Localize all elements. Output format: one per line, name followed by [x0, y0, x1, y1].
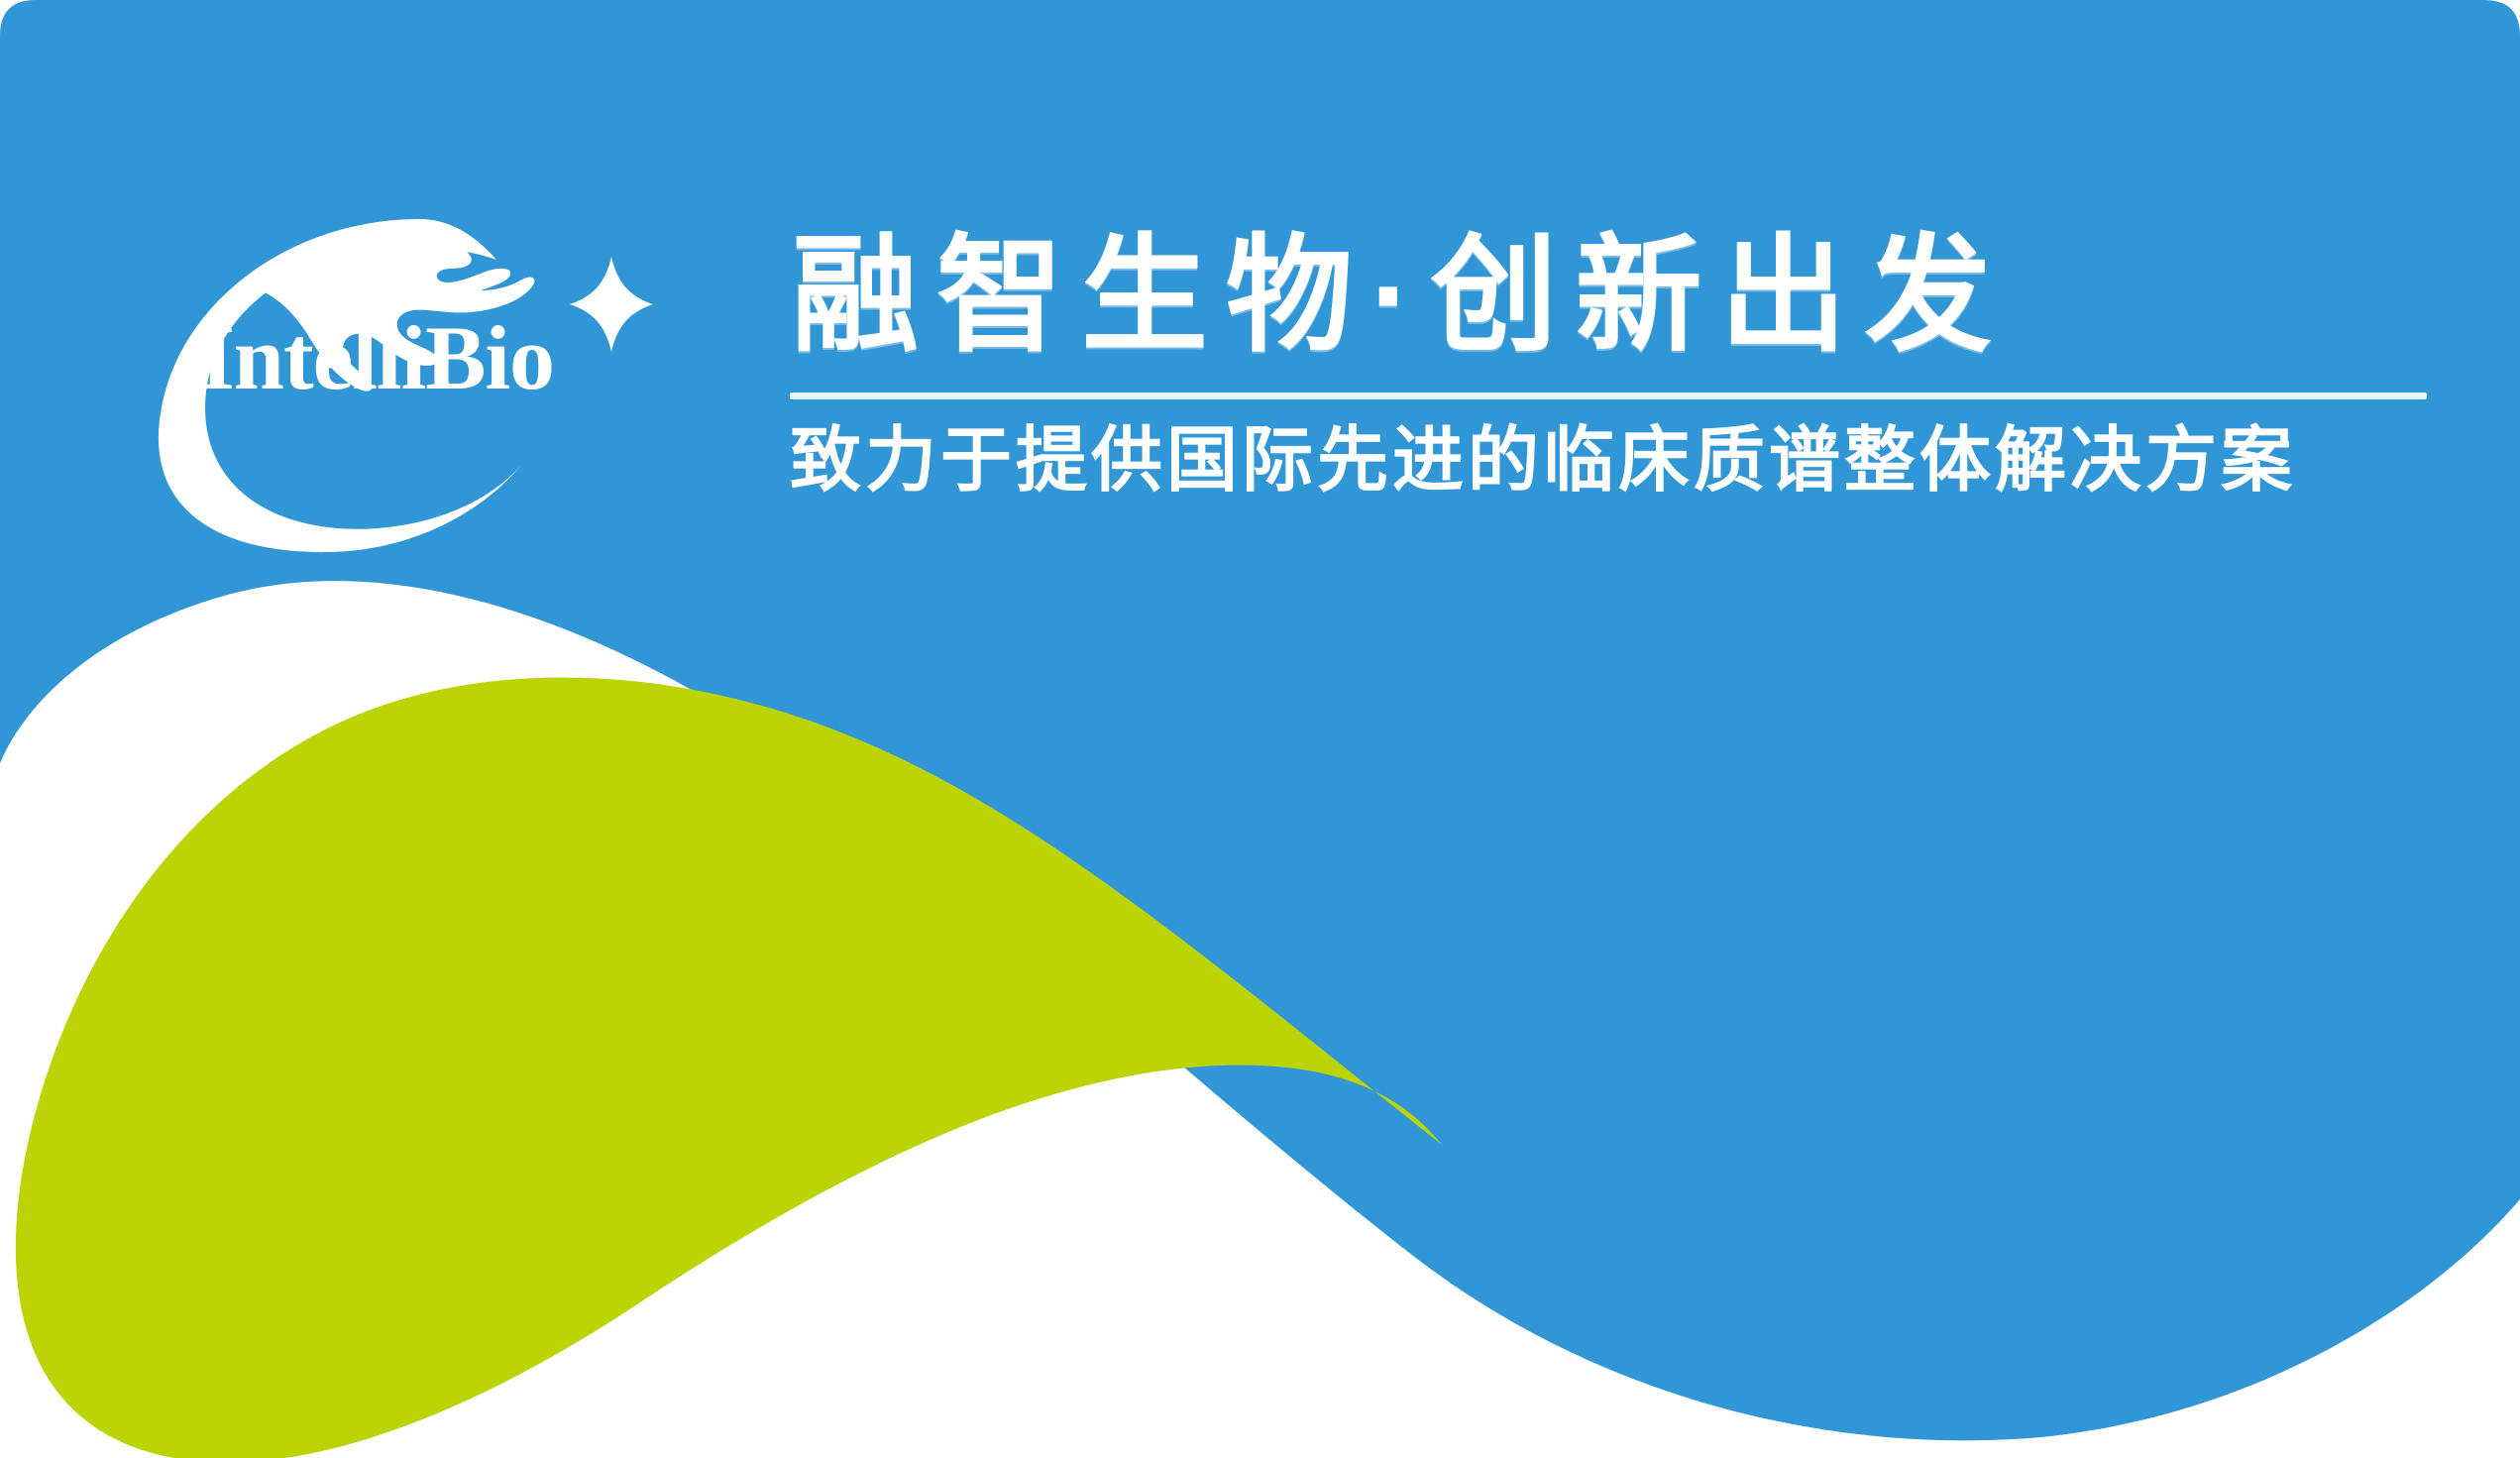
logo-wordmark: IntelliBio — [199, 312, 635, 403]
brand-logo: IntelliBio — [144, 213, 699, 560]
subtitle-tagline: 致力于提供国际先进的临床质谱整体解决方案 — [788, 413, 2433, 509]
brand-text-block: 融智生物·创新出发 致力于提供国际先进的临床质谱整体解决方案 — [788, 213, 2433, 509]
headline-divider-rule — [790, 393, 2427, 399]
headline-slogan: 融智生物·创新出发 — [788, 213, 2433, 381]
intellibio-brand-banner: IntelliBio 融智生物·创新出发 致力于提供国际先进的临床质谱整体解决方… — [0, 0, 2520, 1458]
